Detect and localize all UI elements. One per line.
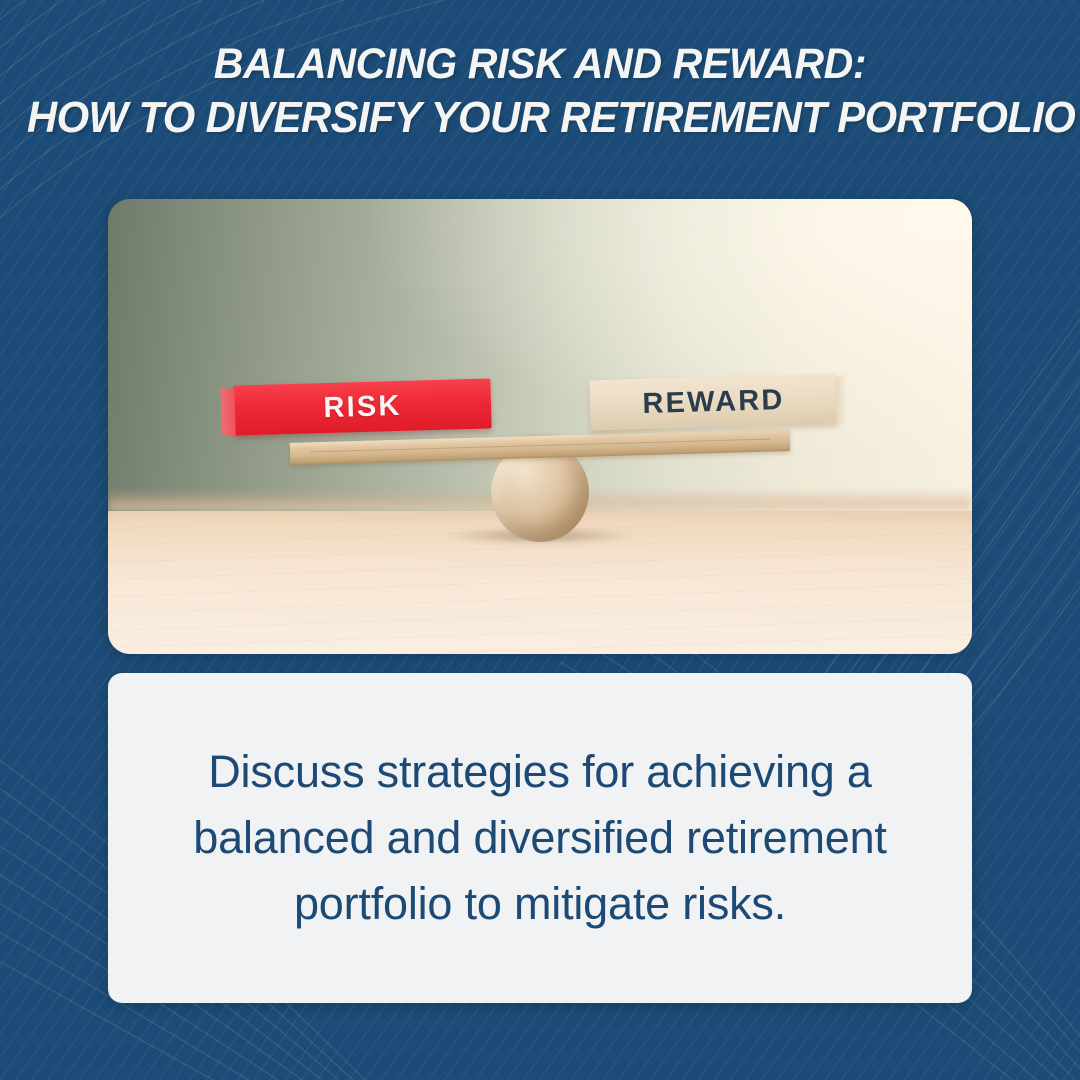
body-text-card: Discuss strategies for achieving a balan… xyxy=(108,673,972,1003)
reward-block: REWARD xyxy=(589,374,837,431)
reward-block-label: REWARD xyxy=(642,386,785,419)
title-line-2: HOW TO DIVERSIFY YOUR RETIREMENT PORTFOL… xyxy=(27,91,1053,144)
hero-photo-card: RISK REWARD xyxy=(108,199,972,654)
poster-title: BALANCING RISK AND REWARD: HOW TO DIVERS… xyxy=(0,38,1080,144)
risk-block: RISK xyxy=(233,378,491,435)
body-text: Discuss strategies for achieving a balan… xyxy=(164,739,916,937)
poster-canvas: BALANCING RISK AND REWARD: HOW TO DIVERS… xyxy=(0,0,1080,1080)
risk-block-label: RISK xyxy=(323,391,402,422)
seesaw-assembly: RISK REWARD xyxy=(108,199,972,654)
title-line-1: BALANCING RISK AND REWARD: xyxy=(24,38,1055,91)
